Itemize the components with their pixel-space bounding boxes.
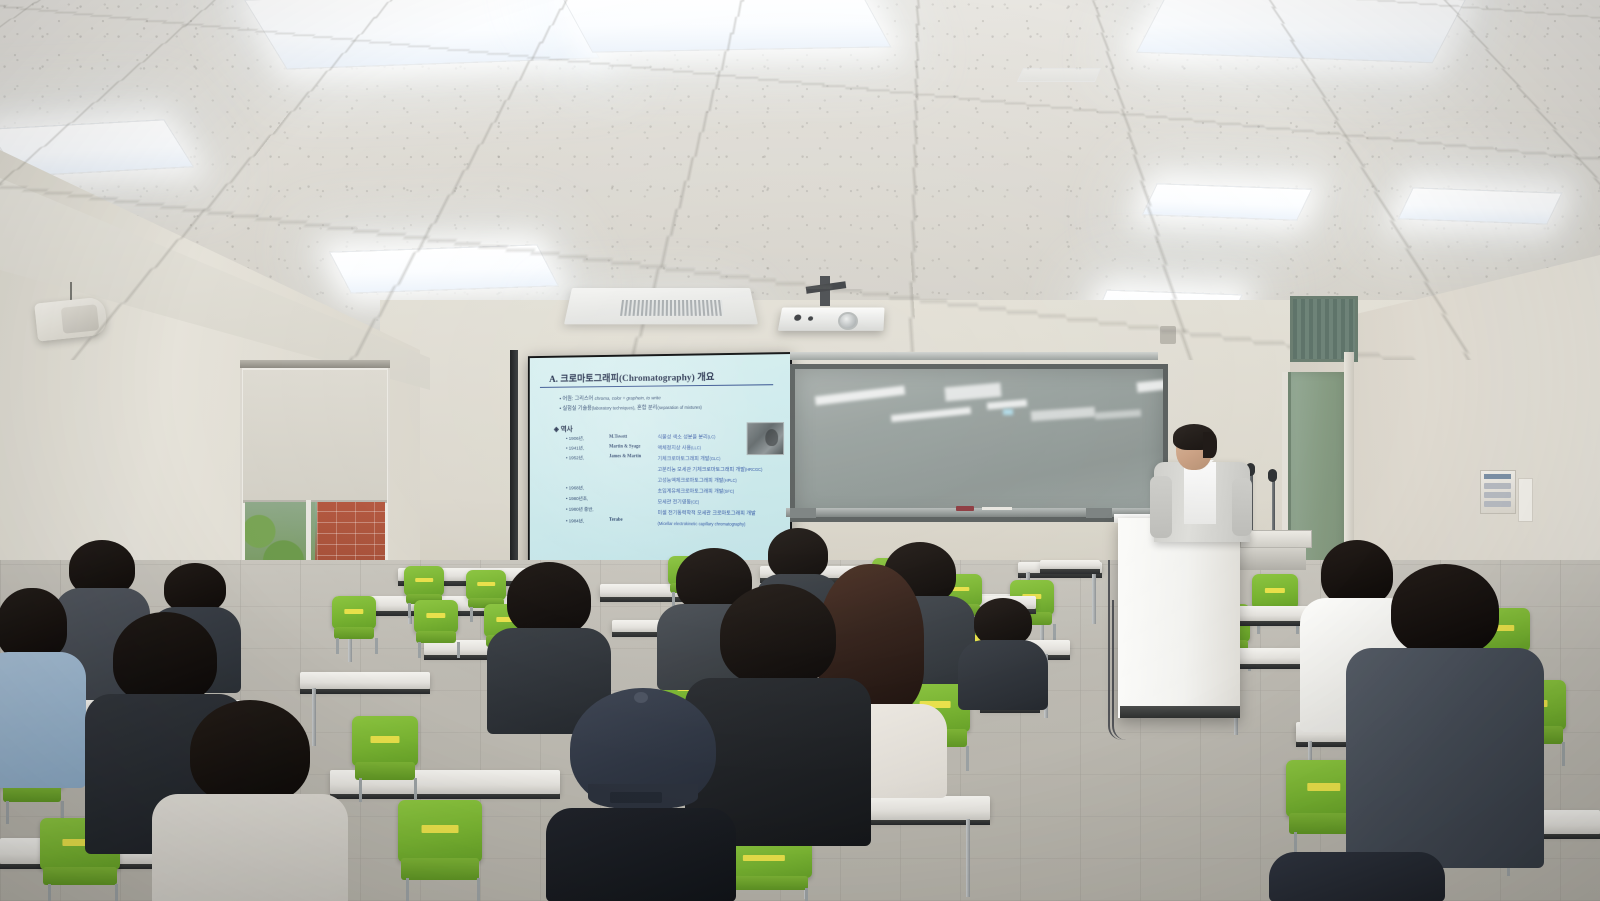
chalkboard-top-rail xyxy=(790,352,1158,360)
tswett-portrait-photo xyxy=(747,422,784,455)
speaker-grille-icon xyxy=(61,304,100,334)
projector-lens-icon xyxy=(838,312,858,330)
history-year: • 1952년, xyxy=(566,454,584,461)
history-desc-text: 고성능액체크로마토그래피 개발 xyxy=(658,478,724,484)
history-desc: 고분리능 모세관 기체크로마토그래피 개발(HRCGC) xyxy=(658,466,763,473)
history-year: • 1941년, xyxy=(566,445,584,452)
history-desc-abbr: (CE) xyxy=(691,500,699,505)
student xyxy=(1272,852,1442,901)
slide-title: A. 크로마토그래피(Chromatography) 개요 xyxy=(549,368,780,385)
history-name: M.Tswett xyxy=(609,435,627,440)
chair[interactable] xyxy=(332,596,376,650)
student-hair xyxy=(1391,564,1499,656)
history-footnote: (Micellar electrokinetic capillary chrom… xyxy=(658,521,746,527)
ceiling-projector xyxy=(778,307,885,330)
history-desc-abbr: (SFC) xyxy=(723,489,734,494)
slide-bullet-2-ko2: , 혼합 분리 xyxy=(634,405,657,411)
history-name: Terabe xyxy=(609,518,622,523)
slide-bullet-2-small2: (separation of mixtures) xyxy=(657,405,701,410)
student-hair xyxy=(974,598,1032,646)
slide-bullet-1-ko: • 어원: 그리스어 xyxy=(559,396,594,402)
ceiling-light-frame xyxy=(1017,68,1101,82)
presenter-hair-side xyxy=(1203,432,1217,458)
ceiling-light-panel xyxy=(561,0,892,53)
av-equipment-cabinet xyxy=(1240,548,1306,570)
student-hair xyxy=(0,588,67,660)
student-hair xyxy=(720,584,836,686)
slide-bullet-2-small: (laboratory techniques) xyxy=(592,405,634,410)
student-torso xyxy=(0,652,86,788)
history-name: James & Martin xyxy=(609,454,641,459)
student-torso xyxy=(152,794,348,901)
chalk-stick[interactable] xyxy=(982,507,1012,510)
slide-bullet-1-italic: chroma, color + graphein, to write xyxy=(595,395,661,401)
presenter-arm xyxy=(1150,476,1172,538)
chair[interactable] xyxy=(414,600,458,654)
student xyxy=(1350,564,1540,864)
history-desc: 고성능액체크로마토그래피 개발(HPLC) xyxy=(658,477,737,484)
slide-title-rule xyxy=(540,384,773,388)
student-hair xyxy=(164,563,226,613)
history-desc: 초임계유체크로마토그래피 개발(SFC) xyxy=(658,488,735,495)
eraser[interactable] xyxy=(956,506,974,511)
desk xyxy=(1040,560,1100,569)
cap-button-icon xyxy=(634,692,648,703)
history-desc-abbr: (HPLC) xyxy=(723,478,736,483)
history-desc-abbr: (HRCGC) xyxy=(745,467,762,472)
history-year: • 1984년, xyxy=(566,517,584,524)
history-name: Martin & Syage xyxy=(609,445,640,450)
slide-bullet-1: • 어원: 그리스어 chroma, color + graphein, to … xyxy=(559,393,660,402)
presenter-arm xyxy=(1232,478,1252,536)
history-desc-abbr: (LC) xyxy=(708,434,716,439)
history-desc-abbr: (GLC) xyxy=(710,456,721,461)
student-torso xyxy=(958,640,1048,710)
podium xyxy=(1118,518,1240,718)
history-desc: 식물성 색소 성분을 분리(LC) xyxy=(658,433,716,440)
student xyxy=(960,598,1046,708)
history-desc-text: 액체정지상 사용 xyxy=(658,445,691,451)
history-year: • 1980년초, xyxy=(566,495,588,502)
history-year: • 1968년, xyxy=(566,485,584,492)
screen-left-edge xyxy=(510,350,518,586)
history-desc-text: 고분리능 모세관 기체크로마토그래피 개발 xyxy=(658,467,745,473)
history-year: • 1980년 중반, xyxy=(566,506,594,513)
history-desc: 모세관 전기영동(CE) xyxy=(658,498,700,505)
slide-section-heading: ◈ 역사 xyxy=(554,424,573,434)
wall-speaker-secondary xyxy=(1160,326,1176,344)
history-desc-text: 초임계유체크로마토그래피 개발 xyxy=(658,489,724,495)
panel-display xyxy=(1484,474,1511,479)
chair[interactable] xyxy=(352,716,418,796)
student-torso xyxy=(1269,852,1445,901)
slide-bullet-2: • 실험실 기술용(laboratory techniques), 혼합 분리(… xyxy=(559,403,701,412)
blind-rail[interactable] xyxy=(240,360,390,368)
ceiling-light-panel xyxy=(1142,183,1313,220)
student-hair xyxy=(113,612,217,704)
history-desc: 미셀 전기동력학적 모세관 크로마토그래피 개발 xyxy=(658,509,756,517)
student-hair xyxy=(190,700,310,804)
wall-sign-arrows-icon xyxy=(1518,478,1533,522)
room-control-panel[interactable] xyxy=(1480,470,1516,514)
microphone-head-icon[interactable] xyxy=(1268,469,1277,482)
roller-blind[interactable] xyxy=(243,370,387,503)
slide-bullet-2-ko: • 실험실 기술용 xyxy=(559,406,591,412)
chalk-tray xyxy=(786,508,1162,517)
history-desc: 액체정지상 사용(LLC) xyxy=(658,444,701,451)
student-hair xyxy=(507,562,591,636)
history-desc-text: 모세관 전기영동 xyxy=(658,499,691,505)
history-desc-text: 식물성 색소 성분을 분리 xyxy=(658,434,708,440)
microphone-stand[interactable] xyxy=(1272,474,1275,530)
history-desc: 기체크로마토그래피 개발(GLC) xyxy=(658,455,721,462)
student-torso xyxy=(1346,648,1544,868)
history-desc-text: 기체크로마토그래피 개발 xyxy=(658,456,710,462)
chair[interactable] xyxy=(398,800,482,900)
ceiling-light-panel xyxy=(1136,0,1466,63)
podium-base xyxy=(1120,706,1240,718)
student-with-cap xyxy=(548,688,734,901)
chalkboard xyxy=(790,364,1168,522)
history-desc-abbr: (LLC) xyxy=(691,445,701,450)
cap-strap xyxy=(610,792,662,803)
desk-leg xyxy=(966,819,970,897)
desk xyxy=(300,672,430,689)
history-year: • 1906년, xyxy=(566,435,584,442)
classroom-scene: A. 크로마토그래피(Chromatography) 개요 • 어원: 그리스어… xyxy=(0,0,1600,901)
desk-leg xyxy=(1092,572,1096,624)
ceiling-light-panel xyxy=(1398,187,1563,224)
ceiling-light-panel xyxy=(329,244,559,293)
ceiling-light-panel xyxy=(244,0,600,70)
air-conditioner-grille-icon xyxy=(620,300,724,316)
student-torso xyxy=(546,808,736,901)
history-desc-text: 미셀 전기동력학적 모세관 크로마토그래피 개발 xyxy=(658,510,756,517)
student xyxy=(162,700,338,901)
